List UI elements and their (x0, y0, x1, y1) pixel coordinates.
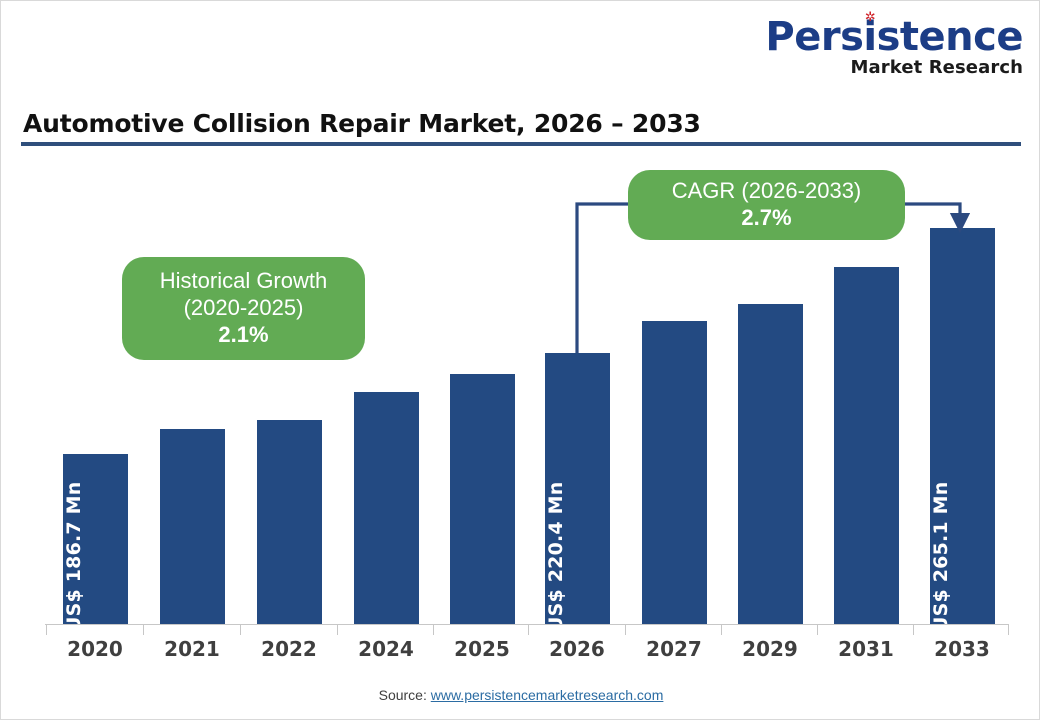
source-footer: Source: www.persistencemarketresearch.co… (1, 687, 1040, 703)
historical-growth-line2: (2020-2025) (140, 295, 347, 322)
x-tick-2033 (913, 624, 914, 635)
source-prefix: Source: (379, 687, 431, 703)
x-tick-2021 (143, 624, 144, 635)
x-axis-line (45, 624, 1009, 625)
bar-2031 (834, 267, 899, 624)
x-tick-2031 (817, 624, 818, 635)
bar-value-label-2033: US$ 265.1 Mn (930, 482, 952, 633)
historical-growth-value: 2.1% (140, 322, 347, 349)
chart-page: Pers✲istence Market Research Automotive … (0, 0, 1040, 720)
x-tick-2029 (721, 624, 722, 635)
x-tick-2022 (240, 624, 241, 635)
cagr-callout: CAGR (2026-2033) 2.7% (628, 170, 905, 240)
x-tick-2027 (625, 624, 626, 635)
x-axis-label-2033: 2033 (902, 637, 1022, 661)
x-tick-2020 (46, 624, 47, 635)
bar-2029 (738, 304, 803, 624)
bar-2024 (354, 392, 419, 624)
bar-value-label-2020: US$ 186.7 Mn (63, 482, 85, 633)
bar-2027 (642, 321, 707, 624)
bar-2022 (257, 420, 322, 624)
x-tick-2026 (528, 624, 529, 635)
cagr-value: 2.7% (646, 205, 887, 232)
source-link[interactable]: www.persistencemarketresearch.com (431, 687, 664, 703)
historical-growth-callout: Historical Growth (2020-2025) 2.1% (122, 257, 365, 360)
cagr-line1: CAGR (2026-2033) (646, 178, 887, 205)
bar-2025 (450, 374, 515, 624)
bar-2021 (160, 429, 225, 624)
bar-chart: US$ 186.7 MnUS$ 220.4 MnUS$ 265.1 Mn (1, 1, 1040, 721)
x-tick-2024 (337, 624, 338, 635)
x-tick-2025 (433, 624, 434, 635)
bar-value-label-2026: US$ 220.4 Mn (545, 482, 567, 633)
x-tick-end (1008, 624, 1009, 635)
historical-growth-line1: Historical Growth (140, 268, 347, 295)
